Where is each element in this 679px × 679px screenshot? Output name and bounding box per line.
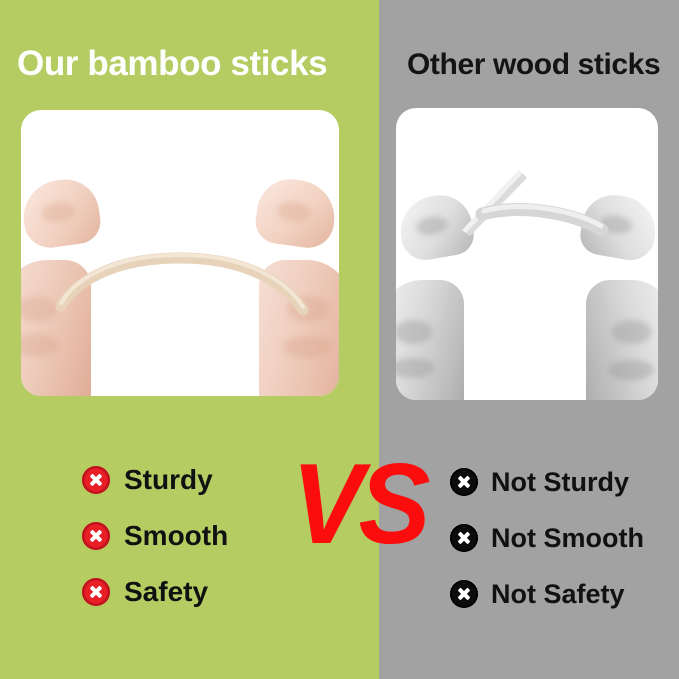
left-product-photo — [21, 110, 339, 396]
right-feature-list: Not Sturdy Not Smooth Not Safety — [450, 457, 644, 625]
feature-label: Not Safety — [491, 579, 625, 610]
red-x-circle-icon — [82, 466, 110, 494]
bamboo-stick-shape — [21, 110, 339, 396]
black-x-circle-icon — [450, 468, 478, 496]
right-product-photo — [396, 108, 658, 400]
feature-row: Smooth — [82, 511, 228, 561]
feature-label: Safety — [124, 576, 208, 608]
feature-label: Not Smooth — [491, 523, 644, 554]
broken-wood-stick-photo — [396, 108, 658, 400]
feature-row: Not Smooth — [450, 513, 644, 563]
feature-row: Safety — [82, 567, 228, 617]
comparison-infographic: Our bamboo sticks Other wood sticks — [0, 0, 679, 679]
red-x-circle-icon — [82, 578, 110, 606]
left-panel-title: Our bamboo sticks — [17, 44, 327, 84]
black-x-circle-icon — [450, 580, 478, 608]
broken-wood-stick-shape — [396, 108, 658, 400]
feature-label: Sturdy — [124, 464, 213, 496]
feature-row: Sturdy — [82, 455, 228, 505]
red-x-circle-icon — [82, 522, 110, 550]
left-feature-list: Sturdy Smooth Safety — [82, 455, 228, 623]
right-panel-title: Other wood sticks — [407, 48, 660, 82]
feature-label: Smooth — [124, 520, 228, 552]
vs-divider-label: VS — [286, 447, 431, 561]
feature-row: Not Sturdy — [450, 457, 644, 507]
feature-row: Not Safety — [450, 569, 644, 619]
feature-label: Not Sturdy — [491, 467, 629, 498]
bamboo-stick-bent-photo — [21, 110, 339, 396]
black-x-circle-icon — [450, 524, 478, 552]
